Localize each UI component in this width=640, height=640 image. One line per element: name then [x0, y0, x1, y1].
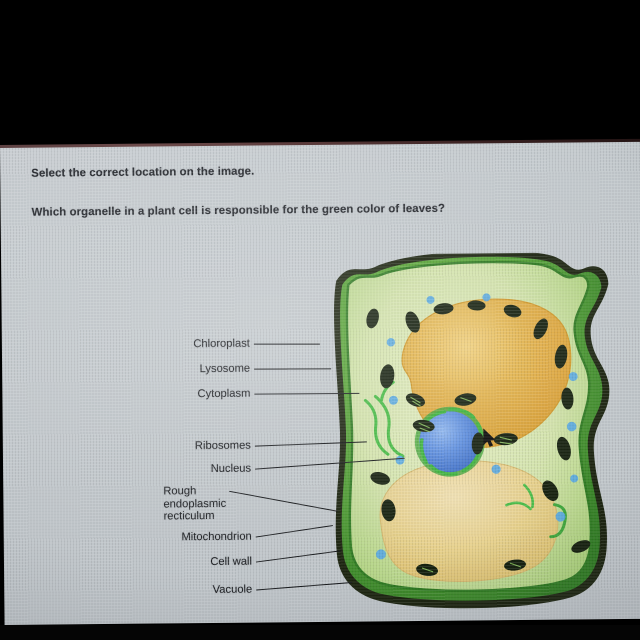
label-nucleus[interactable]: Nucleus [179, 463, 251, 476]
leader-line-chloroplast [254, 344, 320, 345]
letterbox-bottom-bar [0, 625, 640, 640]
label-cell-wall[interactable]: Cell wall [176, 556, 252, 569]
mouse-pointer-icon [483, 428, 497, 447]
screenshot-root: Select the correct location on the image… [0, 0, 640, 640]
label-vacuole[interactable]: Vacuole [176, 584, 252, 597]
vacuole-lower[interactable] [380, 460, 559, 582]
photographed-screen-area: Select the correct location on the image… [0, 142, 640, 625]
label-mitochondrion[interactable]: Mitochondrion [146, 531, 252, 544]
label-cytoplasm[interactable]: Cytoplasm [162, 388, 250, 401]
question-prompt: Which organelle in a plant cell is respo… [32, 203, 446, 219]
letterbox-top-bar [0, 0, 640, 146]
label-lysosome[interactable]: Lysosome [170, 363, 250, 376]
instruction-text: Select the correct location on the image… [31, 166, 254, 180]
label-rough-endoplasmic-reticulum[interactable]: Rough endoplasmic recticulum [163, 485, 249, 524]
label-ribosomes[interactable]: Ribosomes [171, 440, 251, 453]
leader-line-lysosome [254, 368, 331, 369]
label-chloroplast[interactable]: Chloroplast [170, 338, 250, 351]
leader-line-mitochondrion [256, 525, 333, 538]
plant-cell-diagram[interactable] [326, 252, 619, 610]
